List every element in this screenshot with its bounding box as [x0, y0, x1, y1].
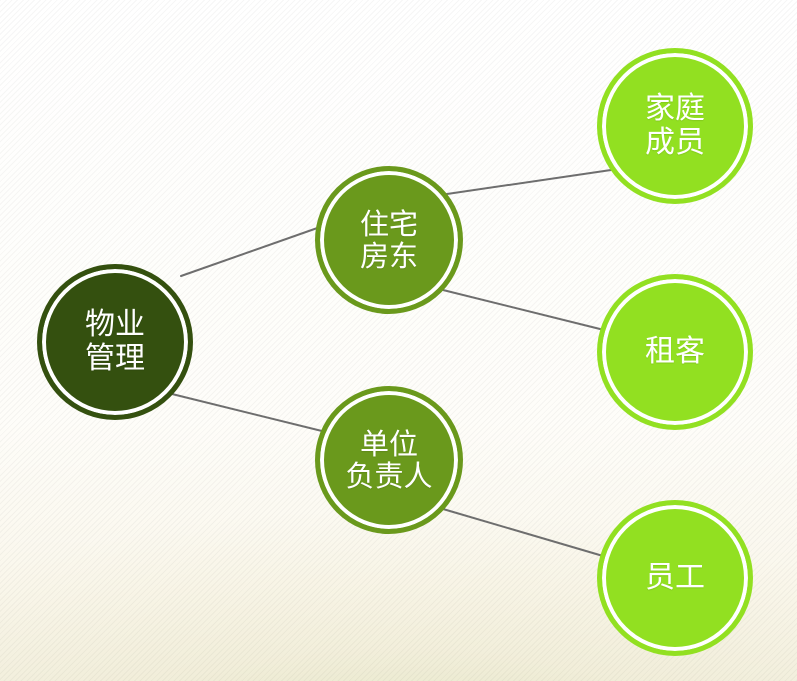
- node-unit-manager[interactable]: 单位 负责人: [315, 386, 463, 534]
- connector-residential-landlord-to-tenant: [443, 290, 600, 329]
- node-tenant[interactable]: 租客: [597, 274, 753, 430]
- node-family-member[interactable]: 家庭 成员: [597, 48, 753, 204]
- diagram-canvas: 物业 管理住宅 房东单位 负责人家庭 成员租客员工: [0, 0, 797, 681]
- node-label-residential-landlord: 住宅 房东: [360, 208, 418, 273]
- node-employee[interactable]: 员工: [597, 500, 753, 656]
- connector-unit-manager-to-employee: [443, 509, 603, 556]
- node-label-unit-manager: 单位 负责人: [345, 428, 432, 493]
- connector-root-to-residential-landlord: [181, 226, 323, 276]
- connector-root-to-unit-manager: [172, 394, 330, 433]
- node-label-tenant: 租客: [645, 335, 705, 369]
- node-residential-landlord[interactable]: 住宅 房东: [315, 166, 463, 314]
- node-label-root: 物业 管理: [85, 308, 145, 375]
- node-label-family-member: 家庭 成员: [645, 92, 705, 159]
- node-root[interactable]: 物业 管理: [37, 264, 193, 420]
- connector-residential-landlord-to-family-member: [447, 170, 611, 194]
- node-label-employee: 员工: [645, 561, 705, 595]
